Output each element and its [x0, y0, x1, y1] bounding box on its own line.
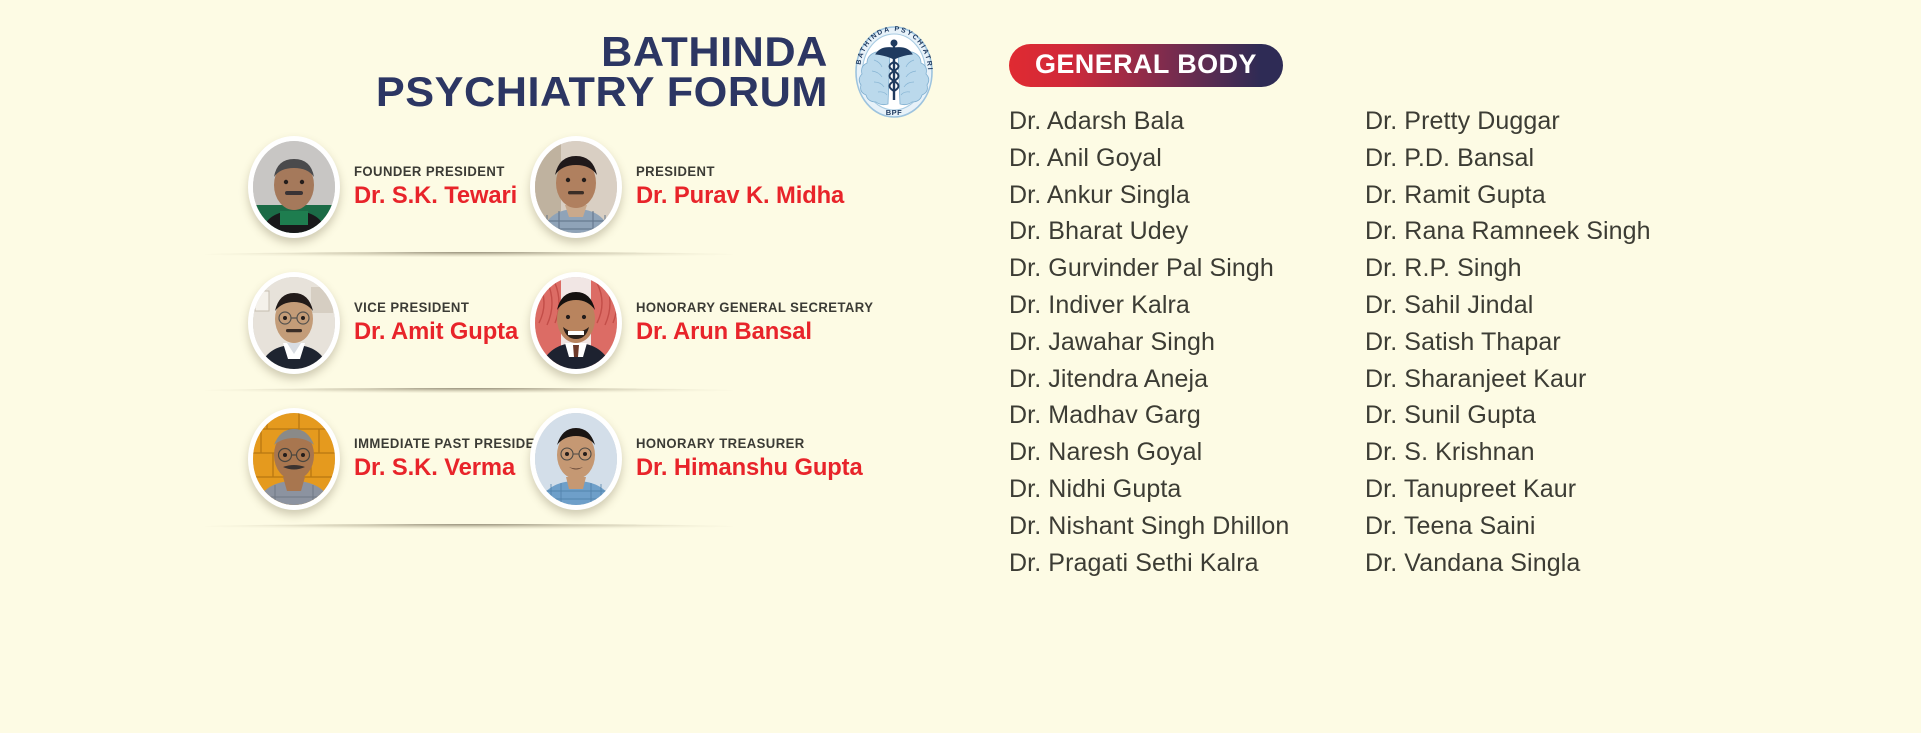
avatar [248, 136, 340, 238]
brand-header: BATHINDA PSYCHIATRY FORUM [248, 22, 948, 122]
officer-photo [253, 141, 335, 233]
general-body-member: Dr. Rana Ramneek Singh [1365, 213, 1785, 250]
officer-card-honorary-general-secretary[interactable]: HONORARY GENERAL SECRETARY Dr. Arun Bans… [530, 272, 830, 374]
general-body-member: Dr. Nidhi Gupta [1009, 471, 1365, 508]
avatar [248, 272, 340, 374]
officer-card-immediate-past-president[interactable]: IMMEDIATE PAST PRESIDENT Dr. S.K. Verma [248, 408, 530, 510]
officer-photo [535, 413, 617, 505]
officer-info: PRESIDENT Dr. Purav K. Midha [622, 165, 846, 208]
officer-rows: FOUNDER PRESIDENT Dr. S.K. Tewari [248, 128, 948, 532]
officer-photo [535, 277, 617, 369]
officer-role: IMMEDIATE PAST PRESIDENT [354, 437, 553, 452]
general-body-member: Dr. Teena Saini [1365, 508, 1785, 545]
general-body-member: Dr. Sunil Gupta [1365, 397, 1785, 434]
general-body-member: Dr. R.P. Singh [1365, 250, 1785, 287]
general-body-member: Dr. Sahil Jindal [1365, 287, 1785, 324]
general-body-member: Dr. Nishant Singh Dhillon [1009, 508, 1365, 545]
general-body-member: Dr. Pretty Duggar [1365, 103, 1785, 140]
officer-info: HONORARY GENERAL SECRETARY Dr. Arun Bans… [622, 301, 881, 344]
general-body-member: Dr. Satish Thapar [1365, 324, 1785, 361]
avatar [530, 272, 622, 374]
general-body-member: Dr. Ankur Singla [1009, 177, 1365, 214]
officer-role: FOUNDER PRESIDENT [354, 165, 514, 180]
avatar [530, 136, 622, 238]
row-divider [204, 518, 734, 532]
avatar [248, 408, 340, 510]
officer-name: Dr. Amit Gupta [354, 319, 518, 345]
officer-card-founder-president[interactable]: FOUNDER PRESIDENT Dr. S.K. Tewari [248, 136, 530, 238]
general-body-member: Dr. P.D. Bansal [1365, 140, 1785, 177]
officer-card-vice-president[interactable]: VICE PRESIDENT Dr. Amit Gupta [248, 272, 530, 374]
general-body-badge: GENERAL BODY [1009, 44, 1283, 87]
officer-name: Dr. Arun Bansal [636, 319, 878, 345]
leadership-panel: BATHINDA PSYCHIATRY FORUM [248, 22, 948, 532]
general-body-panel: GENERAL BODY Dr. Adarsh BalaDr. Anil Goy… [1009, 44, 1869, 581]
brand-title-line1: BATHINDA [376, 32, 828, 72]
general-body-member: Dr. Indiver Kalra [1009, 287, 1365, 324]
general-body-member: Dr. Madhav Garg [1009, 397, 1365, 434]
officer-info: HONORARY TREASURER Dr. Himanshu Gupta [622, 437, 865, 480]
general-body-member: Dr. Adarsh Bala [1009, 103, 1365, 140]
officer-row: IMMEDIATE PAST PRESIDENT Dr. S.K. Verma [248, 400, 948, 518]
general-body-member: Dr. S. Krishnan [1365, 434, 1785, 471]
general-body-member: Dr. Gurvinder Pal Singh [1009, 250, 1365, 287]
general-body-member: Dr. Vandana Singla [1365, 545, 1785, 582]
poster-root: BATHINDA PSYCHIATRY FORUM [0, 0, 1921, 733]
general-body-member: Dr. Jitendra Aneja [1009, 361, 1365, 398]
officer-row: FOUNDER PRESIDENT Dr. S.K. Tewari [248, 128, 948, 246]
avatar [530, 408, 622, 510]
officer-role: HONORARY TREASURER [636, 437, 858, 452]
officer-photo [535, 141, 617, 233]
officer-info: IMMEDIATE PAST PRESIDENT Dr. S.K. Verma [340, 437, 559, 480]
officer-info: FOUNDER PRESIDENT Dr. S.K. Tewari [340, 165, 519, 208]
general-body-member: Dr. Pragati Sethi Kalra [1009, 545, 1365, 582]
general-body-column-2: Dr. Pretty DuggarDr. P.D. BansalDr. Rami… [1365, 103, 1785, 581]
general-body-member: Dr. Tanupreet Kaur [1365, 471, 1785, 508]
row-divider [204, 246, 734, 260]
officer-name: Dr. Purav K. Midha [636, 183, 844, 209]
officer-name: Dr. S.K. Tewari [354, 183, 517, 209]
officer-card-president[interactable]: PRESIDENT Dr. Purav K. Midha [530, 136, 830, 238]
row-divider [204, 382, 734, 396]
general-body-member: Dr. Jawahar Singh [1009, 324, 1365, 361]
officer-role: PRESIDENT [636, 165, 840, 180]
officer-role: VICE PRESIDENT [354, 301, 515, 316]
officer-name: Dr. S.K. Verma [354, 455, 557, 481]
bpf-logo: BATHINDA PSYCHIATRIC FORUM BPF [850, 22, 938, 122]
brand-title-line2: PSYCHIATRY FORUM [376, 72, 828, 112]
general-body-member: Dr. Ramit Gupta [1365, 177, 1785, 214]
officer-photo [253, 277, 335, 369]
svg-text:BPF: BPF [886, 108, 903, 117]
officer-row: VICE PRESIDENT Dr. Amit Gupta [248, 264, 948, 382]
officer-role: HONORARY GENERAL SECRETARY [636, 301, 873, 316]
officer-photo [253, 413, 335, 505]
officer-info: VICE PRESIDENT Dr. Amit Gupta [340, 301, 520, 344]
page-title: BATHINDA PSYCHIATRY FORUM [376, 32, 828, 112]
officer-card-honorary-treasurer[interactable]: HONORARY TREASURER Dr. Himanshu Gupta [530, 408, 830, 510]
general-body-member: Dr. Naresh Goyal [1009, 434, 1365, 471]
general-body-member: Dr. Bharat Udey [1009, 213, 1365, 250]
general-body-column-1: Dr. Adarsh BalaDr. Anil GoyalDr. Ankur S… [1009, 103, 1365, 581]
officer-name: Dr. Himanshu Gupta [636, 455, 863, 481]
general-body-member: Dr. Sharanjeet Kaur [1365, 361, 1785, 398]
general-body-columns: Dr. Adarsh BalaDr. Anil GoyalDr. Ankur S… [1009, 103, 1869, 581]
general-body-member: Dr. Anil Goyal [1009, 140, 1365, 177]
